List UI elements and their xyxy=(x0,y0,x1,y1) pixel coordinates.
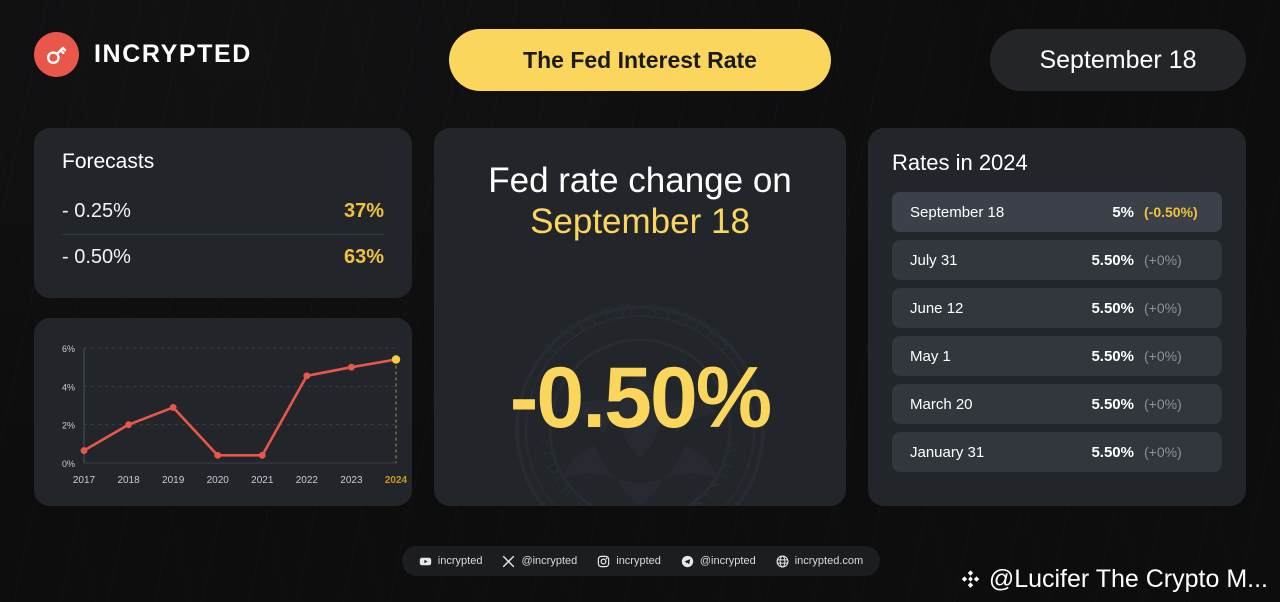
rate-row: March 205.50%(+0%) xyxy=(892,384,1222,424)
rates-title: Rates in 2024 xyxy=(892,150,1222,176)
date-pill: September 18 xyxy=(990,29,1246,91)
brand-name: INCRYPTED xyxy=(94,40,252,69)
rate-delta: (+0%) xyxy=(1144,348,1204,364)
chart-point xyxy=(125,421,132,428)
rate-value: 5% xyxy=(1112,204,1134,221)
rate-date: June 12 xyxy=(910,300,1091,317)
chart-ytick: 0% xyxy=(62,459,75,469)
chart-xtick: 2018 xyxy=(117,475,140,486)
rate-date: July 31 xyxy=(910,252,1091,269)
rate-delta: (+0%) xyxy=(1144,252,1204,268)
chart-ytick: 6% xyxy=(62,344,75,354)
rate-date: May 1 xyxy=(910,348,1091,365)
rate-value: 5.50% xyxy=(1091,444,1134,461)
chart-point xyxy=(214,452,221,459)
rate-row: May 15.50%(+0%) xyxy=(892,336,1222,376)
rate-row: January 315.50%(+0%) xyxy=(892,432,1222,472)
social-x[interactable]: @incrypted xyxy=(502,555,577,568)
forecast-label: - 0.25% xyxy=(62,200,131,223)
chart-xtick: 2021 xyxy=(251,475,274,486)
user-watermark: @Lucifer The Crypto M... xyxy=(958,565,1268,594)
rate-delta: (+0%) xyxy=(1144,300,1204,316)
rate-delta: (+0%) xyxy=(1144,396,1204,412)
chart-point xyxy=(259,452,266,459)
instagram-icon xyxy=(597,555,610,568)
chart-xtick: 2022 xyxy=(296,475,319,486)
rate-value: 5.50% xyxy=(1091,252,1134,269)
chart-ytick: 2% xyxy=(62,421,75,431)
watermark-text: @Lucifer The Crypto M... xyxy=(989,565,1268,594)
forecasts-card: Forecasts - 0.25% 37% - 0.50% 63% xyxy=(34,128,412,298)
chart-point xyxy=(348,364,355,371)
page-title-pill: The Fed Interest Rate xyxy=(449,29,831,91)
social-label: incrypted xyxy=(438,555,483,567)
chart-xtick: 2019 xyxy=(162,475,185,486)
social-instagram[interactable]: incrypted xyxy=(597,555,661,568)
chart-point xyxy=(303,372,310,379)
headline: Fed rate change on September 18 xyxy=(488,160,792,243)
date-label: September 18 xyxy=(1039,46,1196,75)
rate-history-chart-card: 0%2%4%6%20172018201920202021202220232024 xyxy=(34,318,412,506)
chart-xtick: 2024 xyxy=(385,475,408,486)
chart-svg: 0%2%4%6%20172018201920202021202220232024 xyxy=(34,318,412,506)
telegram-icon xyxy=(681,555,694,568)
globe-icon xyxy=(776,555,789,568)
infographic-page: INCRYPTED The Fed Interest Rate Septembe… xyxy=(0,0,1280,602)
social-label: incrypted xyxy=(616,555,661,567)
x-twitter-icon xyxy=(502,555,515,568)
forecast-row: - 0.25% 37% xyxy=(62,188,384,234)
forecast-value: 63% xyxy=(344,246,384,269)
forecasts-list: - 0.25% 37% - 0.50% 63% xyxy=(62,188,384,280)
binance-diamond-icon xyxy=(958,567,983,592)
rate-date: January 31 xyxy=(910,444,1091,461)
rate-value: 5.50% xyxy=(1091,348,1134,365)
header: INCRYPTED The Fed Interest Rate Septembe… xyxy=(0,0,1280,120)
chart-xtick: 2017 xyxy=(73,475,96,486)
rate-date: September 18 xyxy=(910,204,1112,221)
chart-point xyxy=(81,447,88,454)
rate-value: 5.50% xyxy=(1091,300,1134,317)
social-youtube[interactable]: incrypted xyxy=(419,555,483,568)
brand-logo: INCRYPTED xyxy=(34,32,252,77)
headline-line1: Fed rate change on xyxy=(488,160,792,201)
forecast-row: - 0.50% 63% xyxy=(62,234,384,280)
social-bar: incrypted @incrypted incrypted @incrypte… xyxy=(402,546,880,576)
social-telegram[interactable]: @incrypted xyxy=(681,555,756,568)
social-label: @incrypted xyxy=(521,555,577,567)
rate-row: September 185%(-0.50%) xyxy=(892,192,1222,232)
rate-row: June 125.50%(+0%) xyxy=(892,288,1222,328)
chart-xtick: 2020 xyxy=(207,475,230,486)
rates-list: September 185%(-0.50%)July 315.50%(+0%)J… xyxy=(892,192,1222,472)
line-chart: 0%2%4%6%20172018201920202021202220232024 xyxy=(34,318,412,506)
chart-ytick: 4% xyxy=(62,382,75,392)
headline-card: UNITED STATES FEDERAL RESERVE SYSTEM Fed… xyxy=(434,128,846,506)
rate-value: 5.50% xyxy=(1091,396,1134,413)
forecasts-title: Forecasts xyxy=(62,150,384,174)
chart-point-highlight xyxy=(392,355,400,363)
rate-delta: (+0%) xyxy=(1144,444,1204,460)
key-icon xyxy=(34,32,79,77)
headline-line2: September 18 xyxy=(488,201,792,242)
rate-date: March 20 xyxy=(910,396,1091,413)
chart-point xyxy=(170,404,177,411)
forecast-value: 37% xyxy=(344,200,384,223)
forecast-label: - 0.50% xyxy=(62,246,131,269)
rates-card: Rates in 2024 September 185%(-0.50%)July… xyxy=(868,128,1246,506)
rate-delta: (-0.50%) xyxy=(1144,204,1204,220)
social-label: @incrypted xyxy=(700,555,756,567)
chart-line xyxy=(84,360,396,456)
social-website[interactable]: incrypted.com xyxy=(776,555,863,568)
page-title: The Fed Interest Rate xyxy=(523,47,757,74)
youtube-icon xyxy=(419,555,432,568)
rate-change-value: -0.50% xyxy=(510,349,771,448)
social-label: incrypted.com xyxy=(795,555,863,567)
chart-xtick: 2023 xyxy=(340,475,363,486)
rate-row: July 315.50%(+0%) xyxy=(892,240,1222,280)
